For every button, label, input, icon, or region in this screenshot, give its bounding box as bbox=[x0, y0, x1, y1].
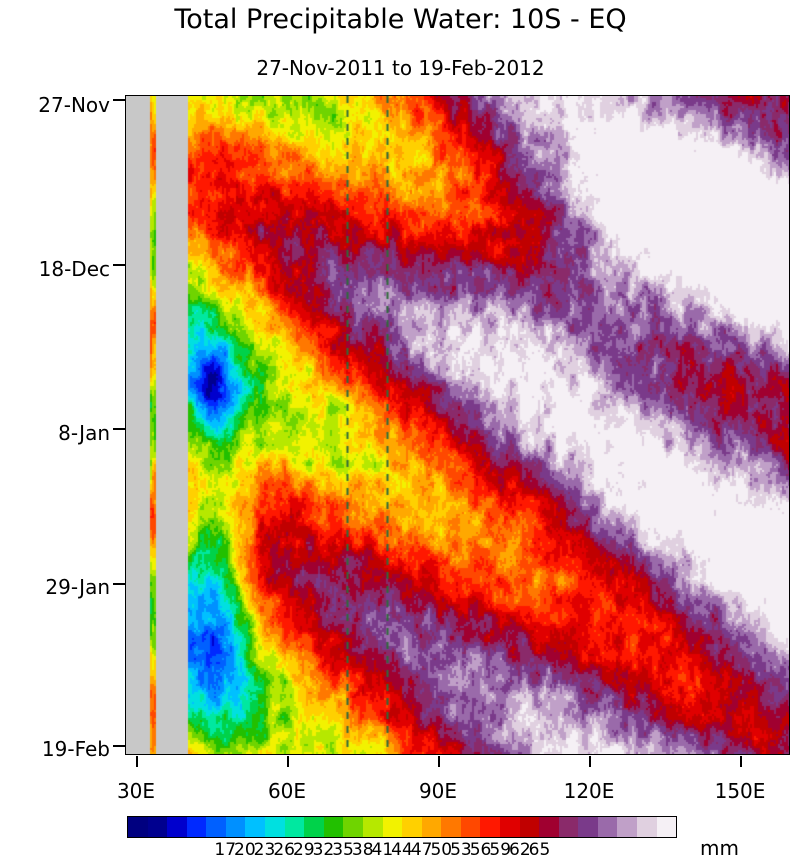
colorbar-swatch bbox=[480, 817, 500, 837]
y-tick-label-2: 8-Jan bbox=[0, 421, 110, 445]
x-tick-mark-1 bbox=[287, 756, 289, 767]
colorbar-tick-label: 29 bbox=[293, 840, 315, 860]
colorbar-tick-label: 17 bbox=[214, 840, 236, 860]
x-tick-label-0: 30E bbox=[96, 779, 176, 803]
colorbar-swatch bbox=[363, 817, 383, 837]
colorbar-swatch bbox=[598, 817, 618, 837]
colorbar-swatch bbox=[285, 817, 305, 837]
y-tick-label-1: 18-Dec bbox=[0, 257, 110, 281]
colorbar-tick-label: 50 bbox=[430, 840, 452, 860]
y-tick-mark-2 bbox=[113, 428, 125, 430]
x-tick-label-1: 60E bbox=[247, 779, 327, 803]
colorbar-swatch bbox=[500, 817, 520, 837]
colorbar-swatch bbox=[422, 817, 442, 837]
x-tick-mark-0 bbox=[136, 756, 138, 767]
colorbar-tick-label: 41 bbox=[372, 840, 394, 860]
colorbar-tick-label: 23 bbox=[254, 840, 276, 860]
colorbar-swatch bbox=[520, 817, 540, 837]
x-tick-label-4: 150E bbox=[700, 779, 780, 803]
y-tick-mark-3 bbox=[113, 583, 125, 585]
heatmap-canvas bbox=[126, 96, 789, 754]
colorbar-swatch bbox=[657, 817, 677, 837]
x-tick-label-2: 90E bbox=[398, 779, 478, 803]
colorbar-swatch bbox=[245, 817, 265, 837]
colorbar-swatch bbox=[559, 817, 579, 837]
colorbar-tick-label: 59 bbox=[489, 840, 511, 860]
colorbar-tick-labels: 1720232629323538414447505356596265 bbox=[127, 840, 677, 864]
y-tick-mark-1 bbox=[113, 264, 125, 266]
x-tick-mark-3 bbox=[589, 756, 591, 767]
colorbar-swatch bbox=[324, 817, 344, 837]
colorbar-tick-label: 65 bbox=[529, 840, 551, 860]
page-title: Total Precipitable Water: 10S - EQ bbox=[0, 4, 801, 35]
colorbar-tick-label: 62 bbox=[509, 840, 531, 860]
colorbar-swatch bbox=[383, 817, 403, 837]
colorbar-unit-label: mm bbox=[700, 836, 739, 860]
x-tick-mark-4 bbox=[740, 756, 742, 767]
colorbar-tick-label: 38 bbox=[352, 840, 374, 860]
y-tick-label-0: 27-Nov bbox=[0, 93, 110, 117]
colorbar-swatch bbox=[128, 817, 148, 837]
colorbar-tick-label: 53 bbox=[450, 840, 472, 860]
colorbar-swatch bbox=[206, 817, 226, 837]
colorbar-tick-label: 56 bbox=[470, 840, 492, 860]
colorbar-swatch bbox=[226, 817, 246, 837]
colorbar-swatch bbox=[617, 817, 637, 837]
colorbar-swatch bbox=[539, 817, 559, 837]
colorbar-swatch bbox=[304, 817, 324, 837]
colorbar-swatch bbox=[441, 817, 461, 837]
colorbar-tick-label: 44 bbox=[391, 840, 413, 860]
y-tick-mark-0 bbox=[113, 99, 125, 101]
colorbar bbox=[127, 816, 677, 838]
colorbar-swatch bbox=[343, 817, 363, 837]
hovmoller-plot bbox=[125, 95, 790, 755]
colorbar-swatch bbox=[461, 817, 481, 837]
colorbar-swatch bbox=[148, 817, 168, 837]
y-tick-label-4: 19-Feb bbox=[0, 737, 110, 761]
colorbar-swatch bbox=[402, 817, 422, 837]
colorbar-tick-label: 35 bbox=[332, 840, 354, 860]
chart-subtitle: 27-Nov-2011 to 19-Feb-2012 bbox=[0, 56, 801, 80]
colorbar-swatch bbox=[637, 817, 657, 837]
y-tick-mark-4 bbox=[113, 745, 125, 747]
x-tick-mark-2 bbox=[438, 756, 440, 767]
colorbar-swatch bbox=[265, 817, 285, 837]
colorbar-tick-label: 32 bbox=[313, 840, 335, 860]
colorbar-tick-label: 20 bbox=[234, 840, 256, 860]
colorbar-swatch bbox=[187, 817, 207, 837]
y-tick-label-3: 29-Jan bbox=[0, 575, 110, 599]
colorbar-tick-label: 26 bbox=[273, 840, 295, 860]
colorbar-swatch bbox=[167, 817, 187, 837]
colorbar-tick-label: 47 bbox=[411, 840, 433, 860]
colorbar-swatch bbox=[578, 817, 598, 837]
x-tick-label-3: 120E bbox=[549, 779, 629, 803]
